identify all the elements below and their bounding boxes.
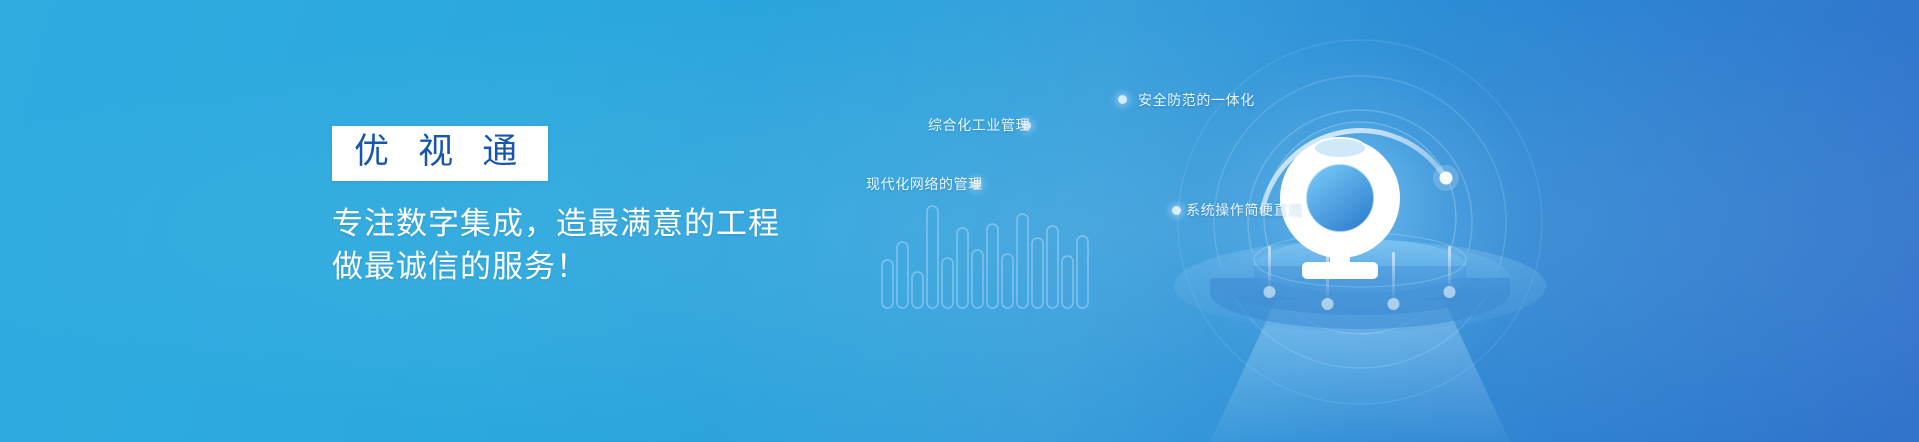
feature-label-2: 现代化网络的管理 — [866, 178, 983, 192]
logo-text: 优 视 通 — [354, 135, 526, 170]
feature-dot-0 — [1118, 95, 1127, 104]
tagline-line-1: 专注数字集成，造最满意的工程 — [332, 203, 780, 246]
feature-label-1: 综合化工业管理 — [928, 119, 1030, 133]
hero-banner: 优 视 通 专注数字集成，造最满意的工程 做最诚信的服务！ — [0, 0, 1919, 442]
tagline: 专注数字集成，造最满意的工程 做最诚信的服务！ — [332, 203, 780, 289]
logo-box: 优 视 通 — [332, 126, 548, 181]
brand-block: 优 视 通 专注数字集成，造最满意的工程 做最诚信的服务！ — [332, 126, 780, 289]
feature-label-3: 系统操作简便直观 — [1186, 204, 1303, 218]
camera-illustration — [1040, 0, 1919, 442]
tagline-line-2: 做最诚信的服务！ — [332, 246, 780, 289]
feature-label-0: 安全防范的一体化 — [1138, 94, 1255, 108]
feature-dot-3 — [1172, 206, 1181, 215]
